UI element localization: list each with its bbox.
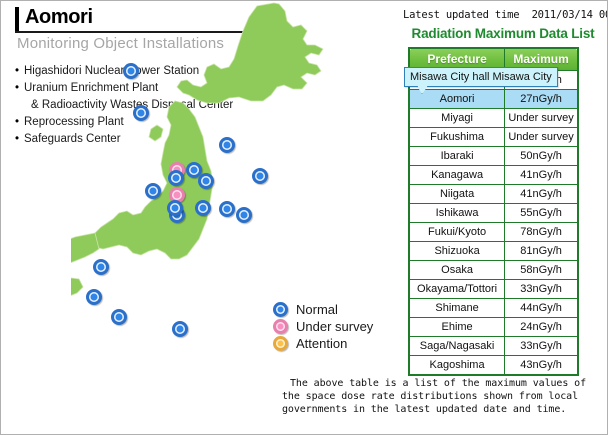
cell-maximum: Under survey: [505, 109, 578, 128]
map-marker-normal[interactable]: [252, 168, 268, 184]
bullet-icon: •: [15, 114, 24, 131]
cell-prefecture: Fukushima: [409, 128, 505, 147]
map-point-tooltip: Misawa City hall Misawa City: [404, 67, 558, 87]
legend-label: Under survey: [296, 318, 373, 335]
page-root: Aomori Monitoring Object Installations •…: [1, 1, 607, 434]
cell-maximum: 81nGy/h: [505, 242, 578, 261]
bullet-icon: •: [15, 131, 24, 148]
table-row[interactable]: Kagoshima43nGy/h: [409, 356, 578, 376]
cell-prefecture: Ehime: [409, 318, 505, 337]
map-marker-normal[interactable]: [195, 200, 211, 216]
legend-item-attention: Attention: [273, 335, 393, 352]
table-row[interactable]: Ishikawa55nGy/h: [409, 204, 578, 223]
table-row[interactable]: Fukui/Kyoto78nGy/h: [409, 223, 578, 242]
cell-maximum: 33nGy/h: [505, 337, 578, 356]
table-row[interactable]: Aomori27nGy/h: [409, 90, 578, 109]
cell-prefecture: Shimane: [409, 299, 505, 318]
map-marker-normal[interactable]: [219, 137, 235, 153]
cell-prefecture: Saga/Nagasaki: [409, 337, 505, 356]
legend-item-under-survey: Under survey: [273, 318, 393, 335]
right-panel: Latest updated time 2011/03/14 00:00 Rad…: [399, 1, 607, 434]
bullet-icon: •: [15, 80, 24, 97]
footer-line: The above table is a list of the maximum…: [282, 377, 602, 390]
map-marker-normal[interactable]: [145, 183, 161, 199]
cell-prefecture: Fukui/Kyoto: [409, 223, 505, 242]
cell-prefecture: Kanagawa: [409, 166, 505, 185]
table-row[interactable]: Niigata41nGy/h: [409, 185, 578, 204]
map-marker-normal[interactable]: [198, 173, 214, 189]
legend-dot-under-survey-icon: [273, 319, 288, 334]
cell-prefecture: Shizuoka: [409, 242, 505, 261]
table-row[interactable]: FukushimaUnder survey: [409, 128, 578, 147]
table-row[interactable]: Osaka58nGy/h: [409, 261, 578, 280]
map-marker-normal[interactable]: [219, 201, 235, 217]
legend-dot-normal-icon: [273, 302, 288, 317]
cell-maximum: 58nGy/h: [505, 261, 578, 280]
cell-prefecture: Niigata: [409, 185, 505, 204]
cell-maximum: 43nGy/h: [505, 356, 578, 376]
map-marker-normal[interactable]: [236, 207, 252, 223]
map-marker-normal[interactable]: [123, 63, 139, 79]
map-marker-normal[interactable]: [167, 200, 183, 216]
map-marker-normal[interactable]: [86, 289, 102, 305]
footer-line: governments in the latest updated date a…: [282, 403, 602, 416]
cell-maximum: 27nGy/h: [505, 90, 578, 109]
table-row[interactable]: Ibaraki50nGy/h: [409, 147, 578, 166]
table-row[interactable]: Shimane44nGy/h: [409, 299, 578, 318]
table-row[interactable]: Ehime24nGy/h: [409, 318, 578, 337]
cell-maximum: 41nGy/h: [505, 185, 578, 204]
cell-prefecture: Kagoshima: [409, 356, 505, 376]
updated-time-label: Latest updated time: [403, 9, 519, 21]
cell-prefecture: Ishikawa: [409, 204, 505, 223]
cell-maximum: 50nGy/h: [505, 147, 578, 166]
table-row[interactable]: Kanagawa41nGy/h: [409, 166, 578, 185]
footer-note: The above table is a list of the maximum…: [282, 377, 602, 416]
legend-label: Attention: [296, 335, 347, 352]
title-accent-bar: [15, 7, 19, 32]
map-marker-normal[interactable]: [111, 309, 127, 325]
map-marker-normal[interactable]: [168, 170, 184, 186]
map-marker-normal[interactable]: [93, 259, 109, 275]
radiation-data-table[interactable]: Prefecture Maximum Hokkaido31nGy/hAomori…: [408, 47, 579, 376]
cell-maximum: 24nGy/h: [505, 318, 578, 337]
map-legend: Normal Under survey Attention: [273, 301, 393, 352]
table-row[interactable]: MiyagiUnder survey: [409, 109, 578, 128]
cell-prefecture: Okayama/Tottori: [409, 280, 505, 299]
cell-prefecture: Ibaraki: [409, 147, 505, 166]
data-list-title: Radiation Maximum Data List: [399, 26, 607, 41]
footer-line: the space dose rate distributions shown …: [282, 390, 602, 403]
cell-prefecture: Osaka: [409, 261, 505, 280]
table-row[interactable]: Okayama/Tottori33nGy/h: [409, 280, 578, 299]
legend-item-normal: Normal: [273, 301, 393, 318]
legend-dot-attention-icon: [273, 336, 288, 351]
table-row[interactable]: Shizuoka81nGy/h: [409, 242, 578, 261]
cell-prefecture: Aomori: [409, 90, 505, 109]
legend-label: Normal: [296, 301, 338, 318]
updated-time: Latest updated time 2011/03/14 00:00: [403, 9, 607, 21]
map-marker-normal[interactable]: [172, 321, 188, 337]
cell-maximum: 44nGy/h: [505, 299, 578, 318]
table-body: Hokkaido31nGy/hAomori27nGy/hMiyagiUnder …: [409, 71, 578, 376]
cell-maximum: 55nGy/h: [505, 204, 578, 223]
map-marker-normal[interactable]: [133, 105, 149, 121]
updated-time-value: 2011/03/14 00:00: [532, 9, 607, 21]
cell-prefecture: Miyagi: [409, 109, 505, 128]
table-row[interactable]: Saga/Nagasaki33nGy/h: [409, 337, 578, 356]
cell-maximum: 33nGy/h: [505, 280, 578, 299]
cell-maximum: 41nGy/h: [505, 166, 578, 185]
cell-maximum: Under survey: [505, 128, 578, 147]
bullet-icon: •: [15, 63, 24, 80]
cell-maximum: 78nGy/h: [505, 223, 578, 242]
